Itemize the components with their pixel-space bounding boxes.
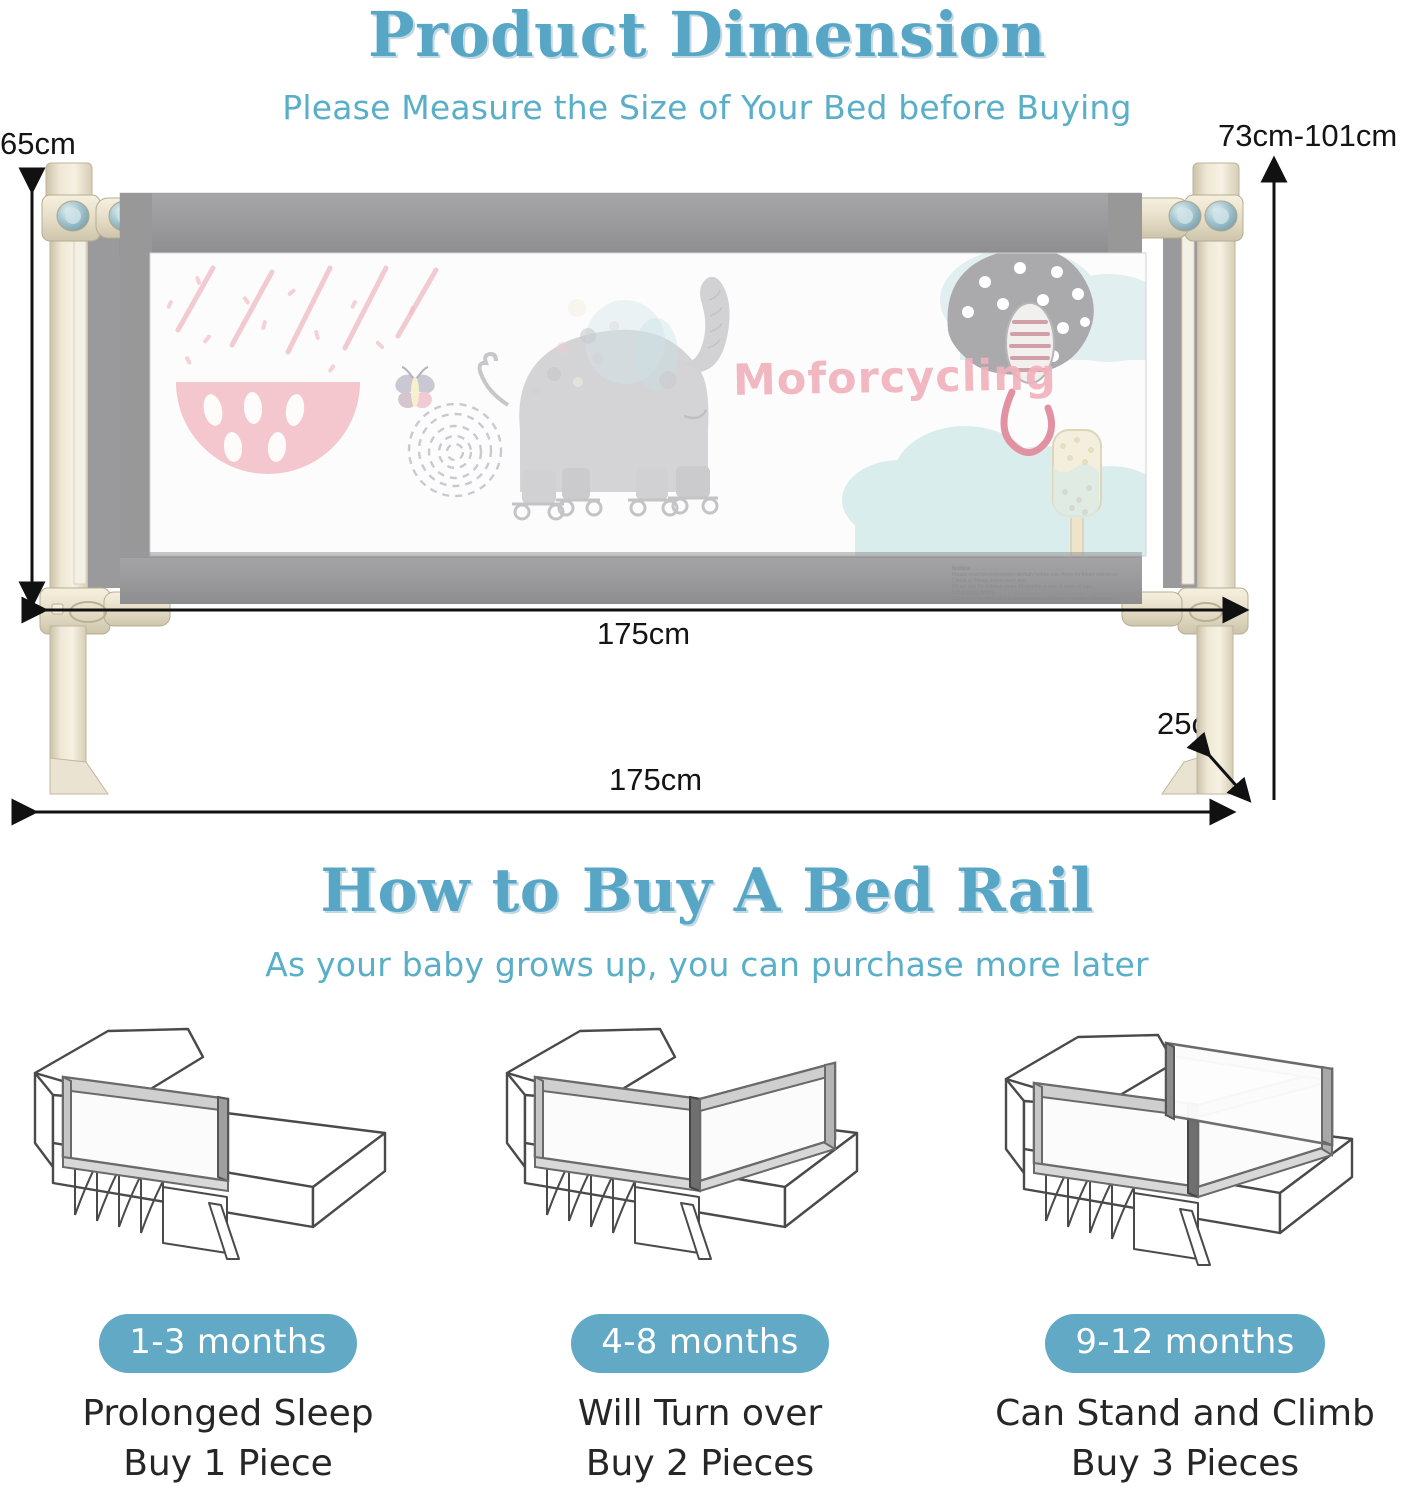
buy-guide-card: 4-8 months Will Turn over Buy 2 Pieces	[480, 1010, 920, 1489]
buy-guide-card: 1-3 months Prolonged Sleep Buy 1 Piece	[8, 1010, 448, 1489]
infographic-page: Product Dimension Please Measure the Siz…	[0, 0, 1414, 1500]
buy-guide-card: 9-12 months Can Stand and Climb Buy 3 Pi…	[965, 1010, 1405, 1489]
card-caption-line2: Buy 3 Pieces	[965, 1439, 1405, 1489]
card-caption-line1: Prolonged Sleep	[8, 1389, 448, 1439]
age-badge: 9-12 months	[1045, 1314, 1324, 1373]
brand-text: Moforcycling	[733, 350, 1057, 406]
product-illustration: 65cm 73cm-101cm 175cm 175cm 25cm	[0, 0, 1414, 840]
bed-illustration-1-rail	[8, 1010, 448, 1300]
buy-guide-cards: 1-3 months Prolonged Sleep Buy 1 Piece	[0, 1010, 1414, 1500]
how-to-buy-subtitle: As your baby grows up, you can purchase …	[0, 945, 1414, 984]
card-caption-line1: Can Stand and Climb	[965, 1389, 1405, 1439]
card-caption-line2: Buy 2 Pieces	[480, 1439, 920, 1489]
notice-block: Notice Please read the instructions care…	[952, 566, 1142, 602]
product-svg	[0, 0, 1414, 840]
how-to-buy-title: How to Buy A Bed Rail	[0, 856, 1414, 926]
age-badge: 4-8 months	[571, 1314, 828, 1373]
notice-line: Make sure the bed rail is locked securel…	[952, 596, 1142, 602]
bed-illustration-3-rails	[965, 1010, 1405, 1300]
age-badge: 1-3 months	[99, 1314, 356, 1373]
card-caption-line2: Buy 1 Piece	[8, 1439, 448, 1489]
bed-illustration-2-rails	[480, 1010, 920, 1300]
card-caption-line1: Will Turn over	[480, 1389, 920, 1439]
